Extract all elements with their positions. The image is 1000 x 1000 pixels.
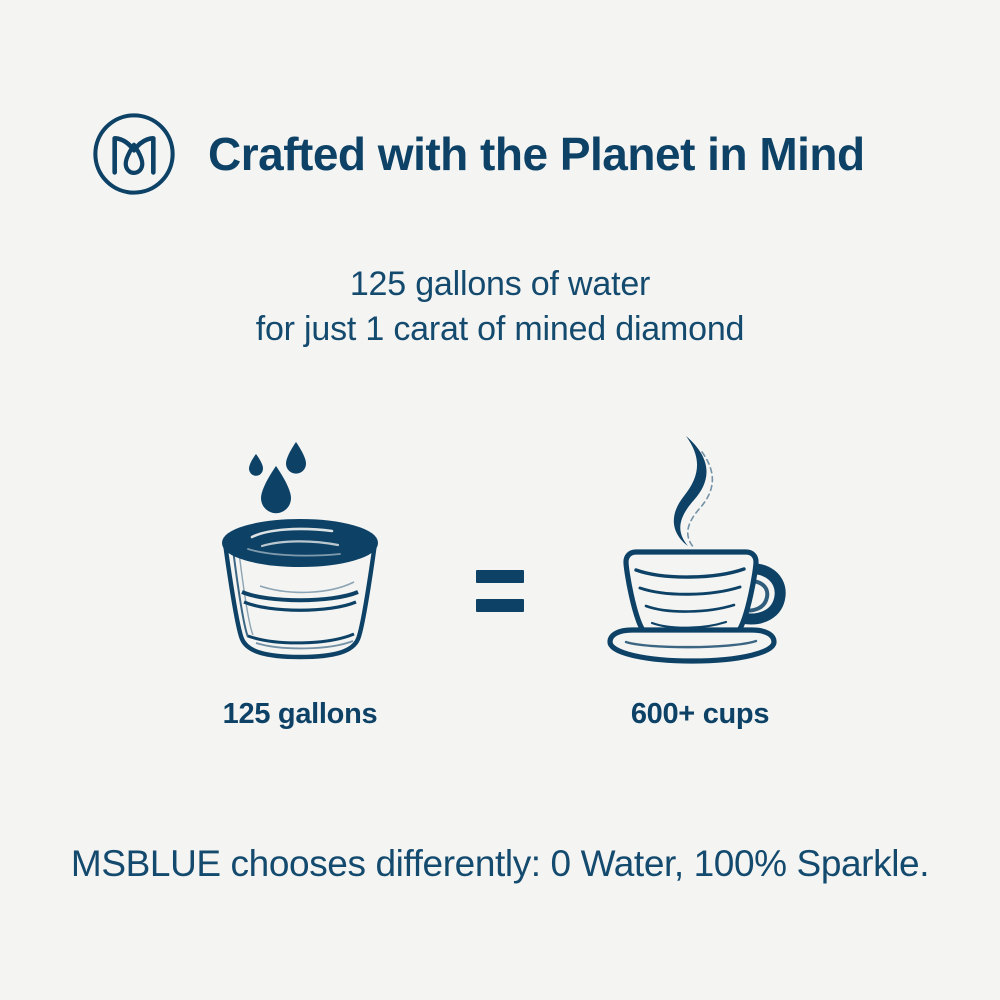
- tagline: MSBLUE chooses differently: 0 Water, 100…: [0, 843, 1000, 885]
- subheading-line-2: for just 1 carat of mined diamond: [0, 307, 1000, 352]
- comparison-item-cups: 600+ cups: [550, 430, 850, 731]
- msblue-monogram-icon: [88, 108, 180, 200]
- subheading-line-1: 125 gallons of water: [0, 262, 1000, 307]
- infographic-canvas: Crafted with the Planet in Mind 125 gall…: [0, 0, 1000, 1000]
- comparison-row: 125 gallons: [0, 430, 1000, 731]
- header: Crafted with the Planet in Mind: [88, 108, 865, 200]
- comparison-item-water: 125 gallons: [150, 430, 450, 731]
- subheading: 125 gallons of water for just 1 carat of…: [0, 262, 1000, 352]
- coffee-cup-art: [590, 430, 810, 670]
- equals-bar-top: [476, 570, 524, 583]
- page-title: Crafted with the Planet in Mind: [208, 131, 865, 177]
- equals-sign: [450, 570, 550, 612]
- coffee-cup-icon: [590, 430, 810, 670]
- coffee-cup-caption: 600+ cups: [631, 698, 769, 731]
- water-bucket-caption: 125 gallons: [223, 698, 378, 731]
- water-bucket-art: [190, 430, 410, 670]
- equals-bar-bottom: [476, 599, 524, 612]
- water-bucket-icon: [190, 430, 410, 670]
